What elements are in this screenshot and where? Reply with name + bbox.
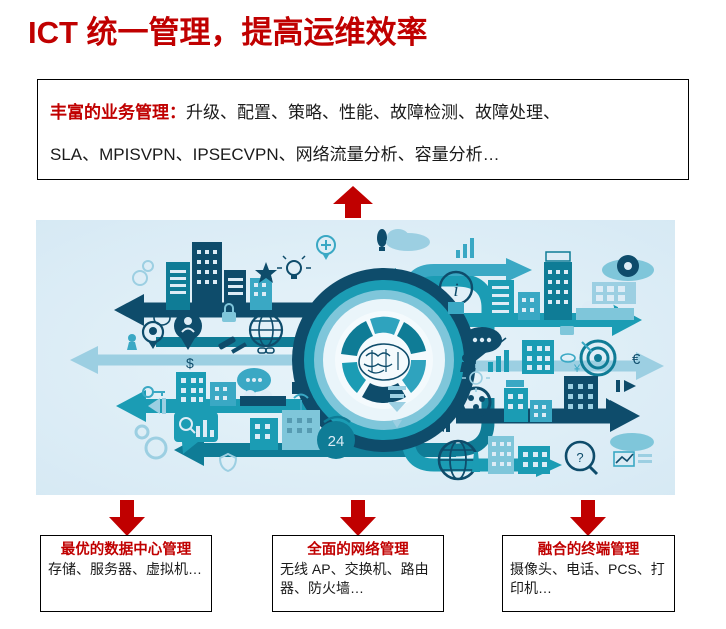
page-title: ICT 统一管理，提高运维效率 [28,13,428,53]
network-box-title: 全面的网络管理 [273,541,443,560]
dollar-icon: $ [186,355,194,371]
datacenter-box-title: 最优的数据中心管理 [41,541,211,560]
arrow-down-to-terminal-box [570,500,606,536]
arrow-up-to-feature-box [333,186,373,218]
network-box-body: 无线 AP、交换机、路由器、防火墙… [273,560,443,598]
feature-line-1-rest: 升级、配置、策略、性能、故障检测、故障处理、 [186,103,560,122]
datacenter-management-box: 最优的数据中心管理 存储、服务器、虚拟机… [40,535,212,612]
datacenter-box-body: 存储、服务器、虚拟机… [41,560,211,579]
terminal-box-title: 融合的终端管理 [503,541,674,560]
arrow-down-to-datacenter-box [109,500,145,536]
arrow-down-to-network-box [340,500,376,536]
terminal-management-box: 融合的终端管理 摄像头、电话、PCS、打印机… [502,535,675,612]
svg-text:?: ? [576,450,583,465]
terminal-box-body: 摄像头、电话、PCS、打印机… [503,560,674,598]
yen-icon: ¥ [573,363,581,375]
feature-callout-box: 丰富的业务管理：升级、配置、策略、性能、故障检测、故障处理、 SLA、MPISV… [37,79,689,180]
card-icon [560,326,574,335]
svg-text:i: i [453,280,458,301]
brain-icon [359,344,409,380]
svg-text:$: $ [186,355,194,371]
feature-line-2: SLA、MPISVPN、IPSECVPN、网络流量分析、容量分析… [50,140,500,165]
feature-line-1: 丰富的业务管理：升级、配置、策略、性能、故障检测、故障处理、 [50,98,560,123]
feature-lead-label: 丰富的业务管理： [50,103,186,122]
network-management-box: 全面的网络管理 无线 AP、交换机、路由器、防火墙… [272,535,444,612]
grid-building-icon [592,282,636,304]
illustration-svg: $ [36,220,675,495]
ict-concept-illustration: $ [36,220,675,495]
euro-icon: € [632,351,641,368]
svg-text:24: 24 [328,433,345,450]
